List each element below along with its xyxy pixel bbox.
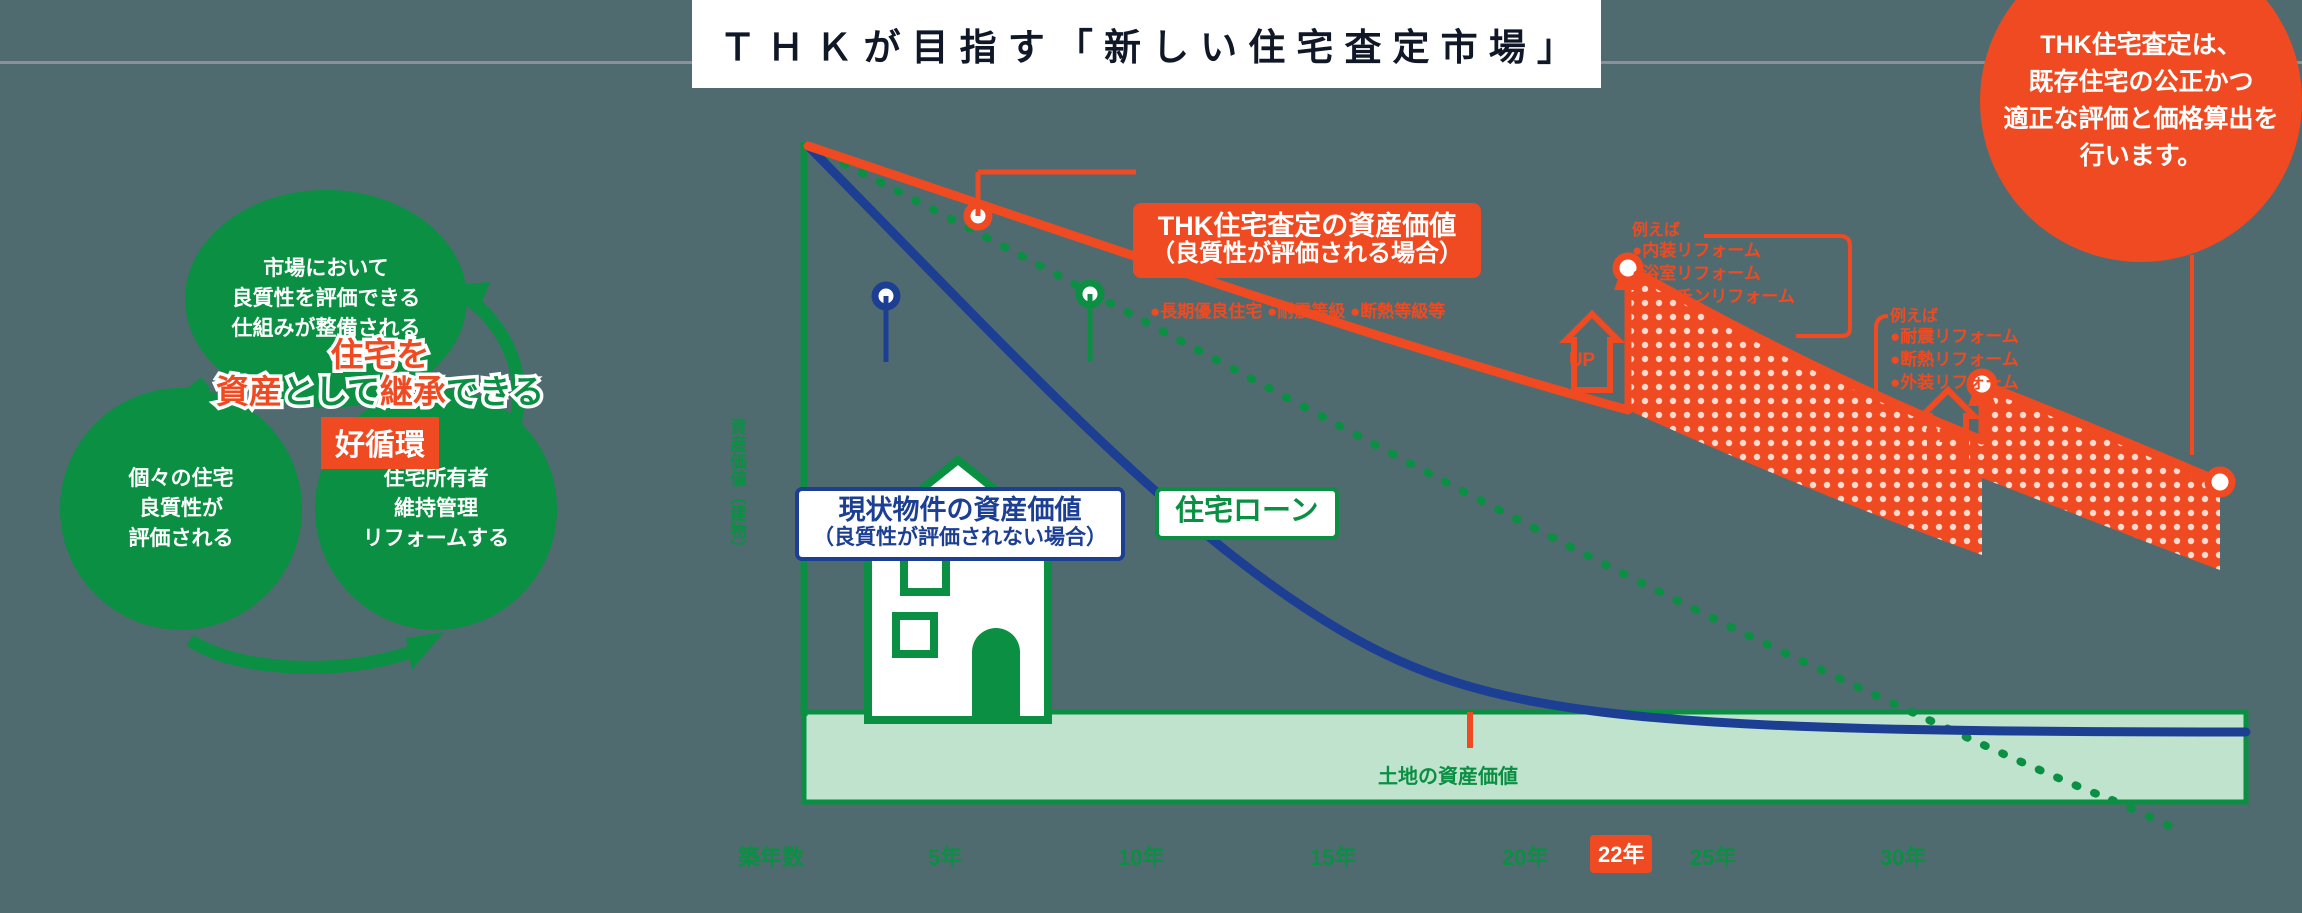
xtick-10y: 10年: [1118, 840, 1164, 872]
xtick-15y: 15年: [1310, 840, 1356, 872]
thk-statement-line-1: THK住宅査定は、: [1991, 27, 2291, 64]
cycle-bubble-homeowner-line-1: 住宅所有者: [327, 464, 545, 494]
xtick-22y-highlight: 22年: [1590, 835, 1652, 873]
cycle-bubble-homeowner-line-2: 維持管理: [327, 494, 545, 524]
up-badge-label-1: UP: [1569, 350, 1595, 372]
page-title-text: ＴＨＫが目指す「新しい住宅査定市場」: [708, 17, 1585, 71]
cycle-bubble-market-line-1: 市場において: [199, 254, 453, 284]
cycle-bubble-individual-home: 個々の住宅 良質性が 評価される: [60, 388, 302, 630]
reform-callout-2: 例えば ●耐震リフォーム ●断熱リフォーム ●外装リフォーム: [1890, 308, 2019, 394]
legend-thk-line-1: THK住宅査定の資産価値: [1151, 211, 1463, 241]
legend-current-line-1: 現状物件の資産価値: [813, 496, 1107, 526]
legend-thk-line-2: （良質性が評価される場合）: [1151, 241, 1463, 268]
xtick-30y: 30年: [1880, 840, 1926, 872]
thk-statement-line-3: 適正な評価と価格算出を: [1991, 101, 2291, 138]
cycle-bubble-individual-home-line-1: 個々の住宅: [72, 464, 290, 494]
cycle-bubble-market-line-3: 仕組みが整備される: [199, 314, 453, 344]
virtuous-cycle-diagram: 市場において 良質性を評価できる 仕組みが整備される 個々の住宅 良質性が 評価…: [40, 170, 690, 810]
cycle-bubble-homeowner: 住宅所有者 維持管理 リフォームする: [315, 388, 557, 630]
legend-current-line-2: （良質性が評価されない場合）: [813, 526, 1107, 549]
reform-callout-1-item-3: ●キッチンリフォーム: [1632, 286, 1795, 309]
legend-housing-loan: 住宅ローン: [1155, 487, 1339, 540]
xtick-20y: 20年: [1502, 840, 1548, 872]
legend-current-property: 現状物件の資産価値 （良質性が評価されない場合）: [795, 487, 1125, 561]
infographic-root: ＴＨＫが目指す「新しい住宅査定市場」 THK住宅査定は、 既存住宅の公正かつ 適…: [0, 0, 2302, 913]
page-title: ＴＨＫが目指す「新しい住宅査定市場」: [692, 0, 1601, 88]
reform-callout-2-item-3: ●外装リフォーム: [1890, 372, 2019, 395]
reform-callout-2-bracket: [1862, 312, 1892, 424]
arrow-left-to-right: [190, 640, 420, 667]
reform-callout-1-head: 例えば: [1632, 222, 1795, 240]
reform-callout-1: 例えば ●内装リフォーム ●浴室リフォーム ●キッチンリフォーム: [1632, 222, 1795, 308]
cycle-bubble-homeowner-line-3: リフォームする: [327, 524, 545, 554]
cycle-bubble-individual-home-line-3: 評価される: [72, 524, 290, 554]
legend-loan-line-1: 住宅ローン: [1175, 496, 1319, 528]
cycle-bubble-market: 市場において 良質性を評価できる 仕組みが整備される: [185, 190, 467, 408]
xtick-5y: 5年: [928, 840, 962, 872]
thk-statement-line-2: 既存住宅の公正かつ: [1991, 64, 2291, 101]
legend-thk-asset-value: THK住宅査定の資産価値 （良質性が評価される場合）: [1133, 203, 1481, 278]
y-axis-label: 資産価値（建物）: [724, 418, 749, 557]
cycle-bubble-individual-home-line-2: 良質性が: [72, 494, 290, 524]
thk-statement-line-4: 行います。: [1991, 138, 2291, 175]
cycle-bubble-market-line-2: 良質性を評価できる: [199, 284, 453, 314]
legend-thk-sub: ●長期優良住宅 ●耐震等級 ●断熱等級等: [1150, 297, 1445, 322]
xtick-0: 築年数: [738, 840, 804, 872]
up-badge-label-2: UP: [1925, 426, 1951, 448]
reform-callout-1-item-1: ●内装リフォーム: [1632, 240, 1795, 263]
arrow-head-right: [406, 632, 444, 670]
orange-circle-tail: [2190, 255, 2194, 455]
xtick-25y: 25年: [1690, 840, 1736, 872]
land-value-label: 土地の資産価値: [1378, 760, 1518, 789]
reform-callout-2-item-2: ●断熱リフォーム: [1890, 349, 2019, 372]
reform-callout-2-head: 例えば: [1890, 308, 2019, 326]
reform-callout-2-item-1: ●耐震リフォーム: [1890, 326, 2019, 349]
reform-callout-1-item-2: ●浴室リフォーム: [1632, 263, 1795, 286]
